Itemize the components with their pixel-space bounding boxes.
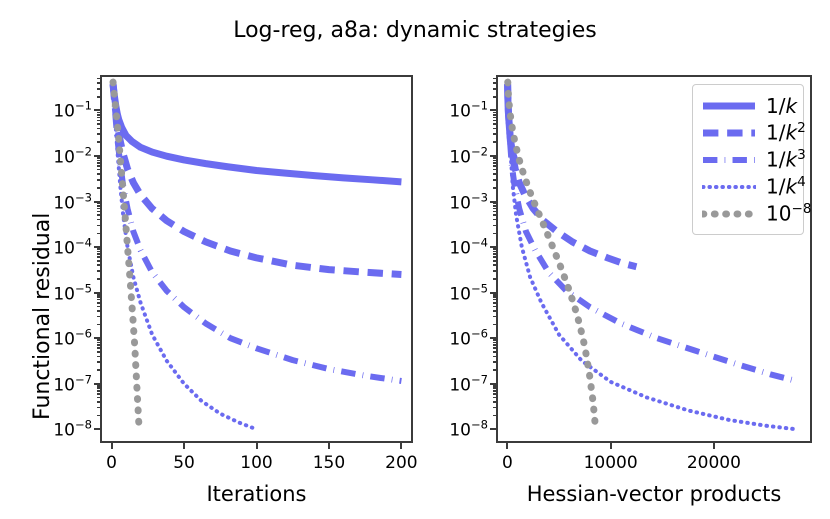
ytick-minor <box>493 369 497 371</box>
ytick-minor <box>97 390 101 392</box>
ytick-minor <box>493 214 497 216</box>
left-panel-xlabel: Iterations <box>100 482 413 506</box>
ytick-label: 10−8 <box>34 418 92 441</box>
ytick-label: 10−5 <box>34 281 92 304</box>
ytick-minor <box>493 361 497 363</box>
ytick-minor <box>493 112 497 114</box>
ytick-minor <box>493 339 497 341</box>
ytick-minor <box>97 205 101 207</box>
ytick-minor <box>97 316 101 318</box>
xtick-major <box>111 443 113 449</box>
ytick-label: 10−6 <box>34 327 92 350</box>
ytick-minor <box>493 162 497 164</box>
ytick-minor <box>493 219 497 221</box>
ytick-label: 10−1 <box>34 99 92 122</box>
ytick-minor <box>493 120 497 122</box>
legend-item: 1/k2 <box>702 119 793 146</box>
ytick-minor <box>493 225 497 227</box>
ytick-minor <box>97 169 101 171</box>
ytick-minor <box>493 82 497 84</box>
ytick-label: 10−6 <box>430 327 488 350</box>
legend-label: 1/k2 <box>766 120 806 145</box>
ytick-minor <box>493 390 497 392</box>
figure-title: Log-reg, a8a: dynamic strategies <box>0 18 830 43</box>
ytick-minor <box>97 203 101 205</box>
ytick-label: 10−8 <box>430 418 488 441</box>
ytick-minor <box>493 401 497 403</box>
ytick-minor <box>97 393 101 395</box>
ytick-minor <box>97 361 101 363</box>
ytick-minor <box>97 302 101 304</box>
ytick-minor <box>97 214 101 216</box>
series-line-1-k-3 <box>113 84 401 381</box>
ytick-minor <box>97 397 101 399</box>
ytick-minor <box>97 310 101 312</box>
series-line-1-k <box>113 84 401 182</box>
ytick-minor <box>97 208 101 210</box>
ytick-label: 10−4 <box>34 236 92 259</box>
ytick-minor <box>97 133 101 135</box>
legend-label: 1/k <box>766 94 797 118</box>
ytick-minor <box>97 324 101 326</box>
xtick-label: 0 <box>502 453 513 473</box>
legend-item: 10−8 <box>702 200 793 227</box>
ytick-minor <box>493 187 497 189</box>
ytick-minor <box>493 397 497 399</box>
xtick-label: 50 <box>173 453 195 473</box>
ytick-minor <box>493 117 497 119</box>
ytick-minor <box>493 169 497 171</box>
ytick-minor <box>493 385 497 387</box>
ytick-minor <box>493 270 497 272</box>
ytick-minor <box>493 407 497 409</box>
ytick-minor <box>493 233 497 235</box>
ytick-minor <box>493 324 497 326</box>
ytick-minor <box>97 344 101 346</box>
ytick-minor <box>493 299 497 301</box>
ytick-label: 10−3 <box>34 190 92 213</box>
ytick-minor <box>493 251 497 253</box>
ytick-minor <box>493 351 497 353</box>
ytick-label: 10−1 <box>430 99 488 122</box>
ytick-minor <box>97 401 101 403</box>
ytick-label: 10−2 <box>430 145 488 168</box>
left-panel-plot <box>100 75 413 443</box>
ytick-minor <box>97 219 101 221</box>
ytick-minor <box>97 407 101 409</box>
xtick-major <box>506 443 508 449</box>
ytick-label: 10−7 <box>430 372 488 395</box>
xtick-label: 200 <box>385 453 417 473</box>
ytick-minor <box>97 233 101 235</box>
ytick-minor <box>97 114 101 116</box>
ytick-minor <box>493 133 497 135</box>
legend-swatch-1-k-2 <box>702 124 756 142</box>
ytick-minor <box>97 117 101 119</box>
ytick-minor <box>97 369 101 371</box>
ytick-minor <box>97 299 101 301</box>
ytick-minor <box>97 294 101 296</box>
ytick-minor <box>97 339 101 341</box>
ytick-label: 10−3 <box>430 190 488 213</box>
ytick-minor <box>97 160 101 162</box>
ytick-minor <box>97 179 101 181</box>
ytick-minor <box>97 347 101 349</box>
ytick-minor <box>97 253 101 255</box>
ytick-minor <box>493 160 497 162</box>
ytick-minor <box>97 248 101 250</box>
ytick-minor <box>97 88 101 90</box>
ytick-minor <box>493 253 497 255</box>
legend-swatch-1-k <box>702 97 756 115</box>
ytick-minor <box>493 114 497 116</box>
legend-label: 10−8 <box>766 201 812 226</box>
xtick-major <box>256 443 258 449</box>
ytick-minor <box>493 123 497 125</box>
ytick-minor <box>493 310 497 312</box>
ytick-minor <box>493 96 497 98</box>
ytick-minor <box>97 128 101 130</box>
ytick-label: 10−2 <box>34 145 92 168</box>
ytick-major <box>94 428 100 430</box>
ytick-minor <box>97 157 101 159</box>
ytick-minor <box>493 347 497 349</box>
legend-swatch-10--8 <box>702 205 756 223</box>
ytick-minor <box>493 208 497 210</box>
ytick-minor <box>493 203 497 205</box>
ytick-label: 10−5 <box>430 281 488 304</box>
ytick-minor <box>97 141 101 143</box>
ytick-minor <box>97 306 101 308</box>
ytick-minor <box>493 248 497 250</box>
ytick-minor <box>97 415 101 417</box>
ytick-minor <box>493 173 497 175</box>
ytick-minor <box>493 165 497 167</box>
ytick-major <box>490 428 496 430</box>
ytick-minor <box>97 351 101 353</box>
ytick-minor <box>493 387 497 389</box>
ytick-minor <box>97 342 101 344</box>
ytick-minor <box>493 296 497 298</box>
ytick-minor <box>97 187 101 189</box>
ytick-minor <box>97 123 101 125</box>
ytick-minor <box>97 120 101 122</box>
ytick-minor <box>493 141 497 143</box>
ytick-minor <box>97 260 101 262</box>
ytick-minor <box>493 211 497 213</box>
ytick-minor <box>493 342 497 344</box>
ytick-minor <box>97 162 101 164</box>
ytick-minor <box>97 112 101 114</box>
xtick-label: 20000 <box>687 453 741 473</box>
ytick-minor <box>493 278 497 280</box>
ytick-minor <box>97 256 101 258</box>
ytick-minor <box>493 356 497 358</box>
right-panel-xlabel: Hessian-vector products <box>470 482 830 506</box>
xtick-major <box>610 443 612 449</box>
ytick-minor <box>493 179 497 181</box>
xtick-label: 150 <box>313 453 345 473</box>
ytick-minor <box>97 278 101 280</box>
ytick-minor <box>493 78 497 80</box>
xtick-label: 10000 <box>584 453 638 473</box>
ytick-minor <box>493 205 497 207</box>
ytick-minor <box>493 256 497 258</box>
legend-swatch-1-k-3 <box>702 151 756 169</box>
ytick-minor <box>493 306 497 308</box>
legend: 1/k1/k21/k31/k410−8 <box>692 84 804 235</box>
ytick-minor <box>97 165 101 167</box>
ytick-minor <box>97 173 101 175</box>
ytick-minor <box>493 393 497 395</box>
ytick-label: 10−7 <box>34 372 92 395</box>
ytick-minor <box>493 344 497 346</box>
ytick-minor <box>97 356 101 358</box>
ytick-label: 10−4 <box>430 236 488 259</box>
xtick-label: 0 <box>106 453 117 473</box>
ytick-minor <box>493 264 497 266</box>
legend-item: 1/k3 <box>702 146 793 173</box>
ytick-minor <box>97 296 101 298</box>
ytick-minor <box>493 157 497 159</box>
ytick-minor <box>97 251 101 253</box>
xtick-major <box>328 443 330 449</box>
ytick-minor <box>97 82 101 84</box>
ytick-minor <box>493 316 497 318</box>
ytick-minor <box>97 78 101 80</box>
ytick-minor <box>493 260 497 262</box>
legend-label: 1/k3 <box>766 147 806 172</box>
ytick-minor <box>493 415 497 417</box>
ytick-minor <box>97 387 101 389</box>
ytick-minor <box>97 385 101 387</box>
series-line-10--8 <box>508 82 596 429</box>
legend-item: 1/k <box>702 92 793 119</box>
legend-swatch-1-k-4 <box>702 178 756 196</box>
ytick-minor <box>97 225 101 227</box>
ytick-minor <box>493 294 497 296</box>
xtick-major <box>183 443 185 449</box>
ytick-minor <box>97 211 101 213</box>
xtick-label: 100 <box>240 453 272 473</box>
ytick-minor <box>97 264 101 266</box>
ytick-minor <box>493 302 497 304</box>
legend-item: 1/k4 <box>702 173 793 200</box>
ytick-minor <box>493 128 497 130</box>
xtick-major <box>400 443 402 449</box>
legend-label: 1/k4 <box>766 174 806 199</box>
ytick-minor <box>97 270 101 272</box>
left-panel-axes <box>100 75 413 443</box>
figure-root: Log-reg, a8a: dynamic strategies Functio… <box>0 0 830 519</box>
ytick-minor <box>97 96 101 98</box>
ytick-minor <box>493 88 497 90</box>
xtick-major <box>713 443 715 449</box>
